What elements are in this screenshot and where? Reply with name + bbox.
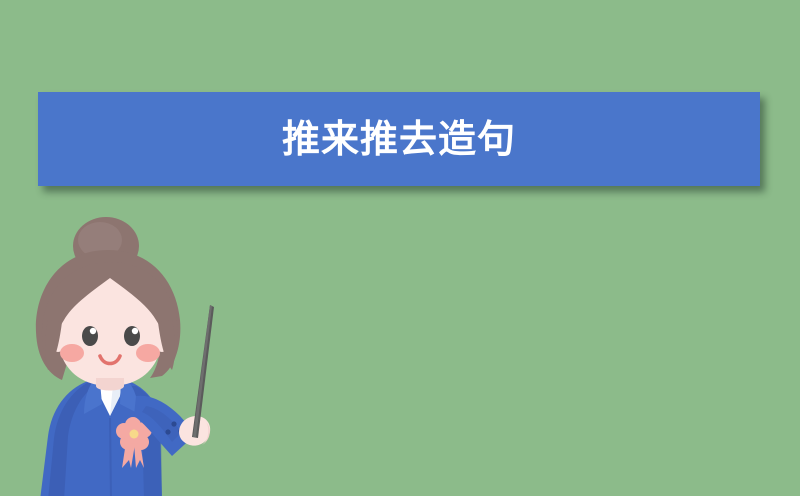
cuff-button-3: [165, 429, 170, 434]
title-banner: 推来推去造句: [38, 92, 760, 186]
badge-center: [130, 430, 139, 439]
teacher-illustration: [10, 210, 240, 496]
eye-left-highlight: [90, 328, 96, 334]
cuff-button-1: [171, 421, 176, 426]
page-canvas: 推来推去造句: [0, 0, 800, 496]
page-title: 推来推去造句: [282, 120, 516, 158]
blush-left: [60, 344, 84, 362]
blush-right: [136, 344, 160, 362]
eye-left: [82, 326, 98, 346]
neck: [96, 378, 124, 391]
eye-right-highlight: [132, 328, 138, 334]
head-group: [36, 217, 180, 386]
eye-right: [124, 326, 140, 346]
jacket-center-seam: [110, 418, 111, 496]
body-group: [40, 374, 162, 496]
